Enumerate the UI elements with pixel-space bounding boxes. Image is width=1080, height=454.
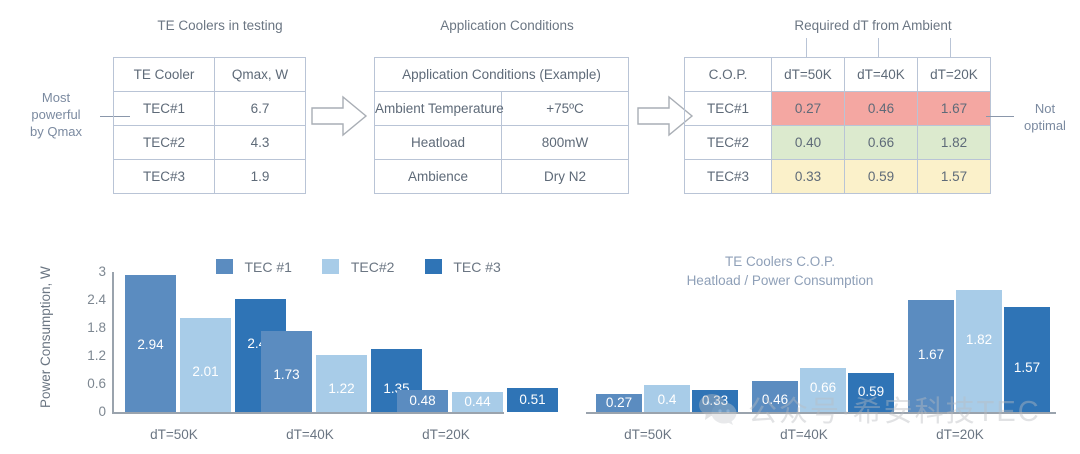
bar-value: 0.48 [397,393,448,408]
tick-leader-dt40 [878,38,879,58]
table-row: TEC#3 1.9 [114,160,306,194]
header-cop: C.O.P. [685,58,772,92]
bar-tec2-dt40: 1.22 [316,355,367,412]
cell-cop-value: 1.67 [918,92,991,126]
bar-cop-tec2-dt20: 1.82 [956,290,1002,412]
bar-value: 0.33 [692,393,738,408]
cell-condition-label: Ambient Temperature [375,92,502,126]
bar-value: 0.44 [452,394,503,409]
table-row: TEC#1 0.27 0.46 1.67 [685,92,991,126]
chart-cop-plot-area: 0.27 0.4 0.33 0.46 0.66 0.59 1.67 1.82 1… [586,290,1056,412]
x-category-dt20: dT=20K [394,427,498,442]
section-title-required-dt: Required dT from Ambient [763,18,983,33]
bar-value: 0.4 [644,392,690,407]
cell-cop-value: 1.57 [918,160,991,194]
chart-cop-x-axis [586,412,1056,414]
cell-cooler-name: TEC#1 [114,92,215,126]
y-tick-2_4: 2.4 [72,292,106,307]
table-row-header: C.O.P. dT=50K dT=40K dT=20K [685,58,991,92]
x-category-dt40: dT=40K [258,427,362,442]
cell-cooler-name: TEC#2 [114,126,215,160]
bar-value: 0.27 [596,395,642,410]
cell-cooler-qmax: 6.7 [215,92,306,126]
x-category-cop-dt50: dT=50K [596,427,700,442]
arrow-right-icon-1 [310,94,368,138]
cell-condition-value: +75ºC [502,92,629,126]
bar-cop-tec3-dt50: 0.33 [692,390,738,412]
bar-cop-tec1-dt50: 0.27 [596,394,642,412]
table-row: Ambient Temperature +75ºC [375,92,629,126]
bar-value: 1.22 [316,381,367,396]
chart-cop-subtitle: Heatload / Power Consumption [630,271,930,290]
bar-tec3-dt20: 0.51 [507,388,558,412]
x-category-cop-dt40: dT=40K [752,427,856,442]
table-row: TEC#2 4.3 [114,126,306,160]
chart-power-y-axis-label: Power Consumption, W [38,266,53,408]
bar-cop-tec2-dt50: 0.4 [644,385,690,412]
bar-tec1-dt20: 0.48 [397,390,448,412]
bar-value: 1.82 [956,332,1002,347]
chart-power-x-axis [112,412,504,414]
bar-value: 2.01 [180,364,231,379]
cell-condition-label: Heatload [375,126,502,160]
bar-tec1-dt40: 1.73 [261,331,312,412]
table-row: Ambience Dry N2 [375,160,629,194]
tick-leader-dt20 [950,38,951,58]
table-row: TEC#3 0.33 0.59 1.57 [685,160,991,194]
table-row-header: TE Cooler Qmax, W [114,58,306,92]
tick-leader-dt50 [806,38,807,58]
bar-value: 1.57 [1004,360,1050,375]
section-title-coolers: TE Coolers in testing [120,18,320,33]
cell-condition-label: Ambience [375,160,502,194]
chart-power-plot-area: 2.94 2.01 2.42 1.73 1.22 1.35 0.48 0.44 … [113,272,505,412]
annotation-not-optimal-line2: optimal [1012,117,1078,134]
bar-value: 0.46 [752,392,798,407]
bar-cop-tec2-dt40: 0.66 [800,368,846,412]
annotation-most-powerful-line3: by Qmax [12,123,100,140]
leader-line-not-optimal [986,116,1014,117]
y-tick-0_6: 0.6 [72,376,106,391]
y-tick-1_8: 1.8 [72,320,106,335]
bar-cop-tec1-dt40: 0.46 [752,381,798,412]
header-dt20: dT=20K [918,58,991,92]
bar-cop-tec3-dt40: 0.59 [848,373,894,413]
x-category-cop-dt20: dT=20K [908,427,1012,442]
y-tick-0: 0 [72,404,106,419]
annotation-most-powerful-line1: Most [12,89,100,106]
annotation-not-optimal: Not optimal [1012,100,1078,134]
cell-cop-value: 0.59 [845,160,918,194]
bar-value: 2.94 [125,337,176,352]
bar-tec2-dt50: 2.01 [180,318,231,412]
bar-value: 0.51 [507,392,558,407]
cell-cop-value: 0.40 [772,126,845,160]
y-tick-3: 3 [72,264,106,279]
table-row: Heatload 800mW [375,126,629,160]
bar-value: 0.66 [800,380,846,395]
annotation-most-powerful: Most powerful by Qmax [12,89,100,140]
cell-cooler-name: TEC#3 [114,160,215,194]
bar-tec2-dt20: 0.44 [452,392,503,413]
section-title-conditions: Application Conditions [382,18,632,33]
cell-condition-value: 800mW [502,126,629,160]
cell-cop-value: 0.27 [772,92,845,126]
header-te-cooler: TE Cooler [114,58,215,92]
cell-cop-value: 1.82 [918,126,991,160]
cell-cop-value: 0.33 [772,160,845,194]
annotation-most-powerful-line2: powerful [12,106,100,123]
cell-cop-name: TEC#3 [685,160,772,194]
cell-cooler-qmax: 4.3 [215,126,306,160]
bar-value: 1.67 [908,347,954,362]
slide-canvas: TE Coolers in testing Application Condit… [0,0,1080,454]
table-row-header: Application Conditions (Example) [375,58,629,92]
cell-cop-name: TEC#2 [685,126,772,160]
cell-cop-value: 0.46 [845,92,918,126]
bar-cop-tec3-dt20: 1.57 [1004,307,1050,412]
bar-value: 0.59 [848,384,894,399]
y-tick-1_2: 1.2 [72,348,106,363]
header-dt50: dT=50K [772,58,845,92]
table-te-coolers: TE Cooler Qmax, W TEC#1 6.7 TEC#2 4.3 TE… [113,57,306,194]
cell-cop-value: 0.66 [845,126,918,160]
header-qmax: Qmax, W [215,58,306,92]
table-row: TEC#1 6.7 [114,92,306,126]
chart-cop-title: TE Coolers C.O.P. [630,252,930,271]
cell-cooler-qmax: 1.9 [215,160,306,194]
annotation-not-optimal-line1: Not [1012,100,1078,117]
bar-tec1-dt50: 2.94 [125,275,176,412]
table-row: TEC#2 0.40 0.66 1.82 [685,126,991,160]
table-cop: C.O.P. dT=50K dT=40K dT=20K TEC#1 0.27 0… [684,57,991,194]
header-application-conditions: Application Conditions (Example) [375,58,629,92]
header-dt40: dT=40K [845,58,918,92]
cell-cop-name: TEC#1 [685,92,772,126]
bar-value: 1.73 [261,367,312,382]
table-application-conditions: Application Conditions (Example) Ambient… [374,57,629,194]
x-category-dt50: dT=50K [122,427,226,442]
bar-cop-tec1-dt20: 1.67 [908,300,954,412]
cell-condition-value: Dry N2 [502,160,629,194]
